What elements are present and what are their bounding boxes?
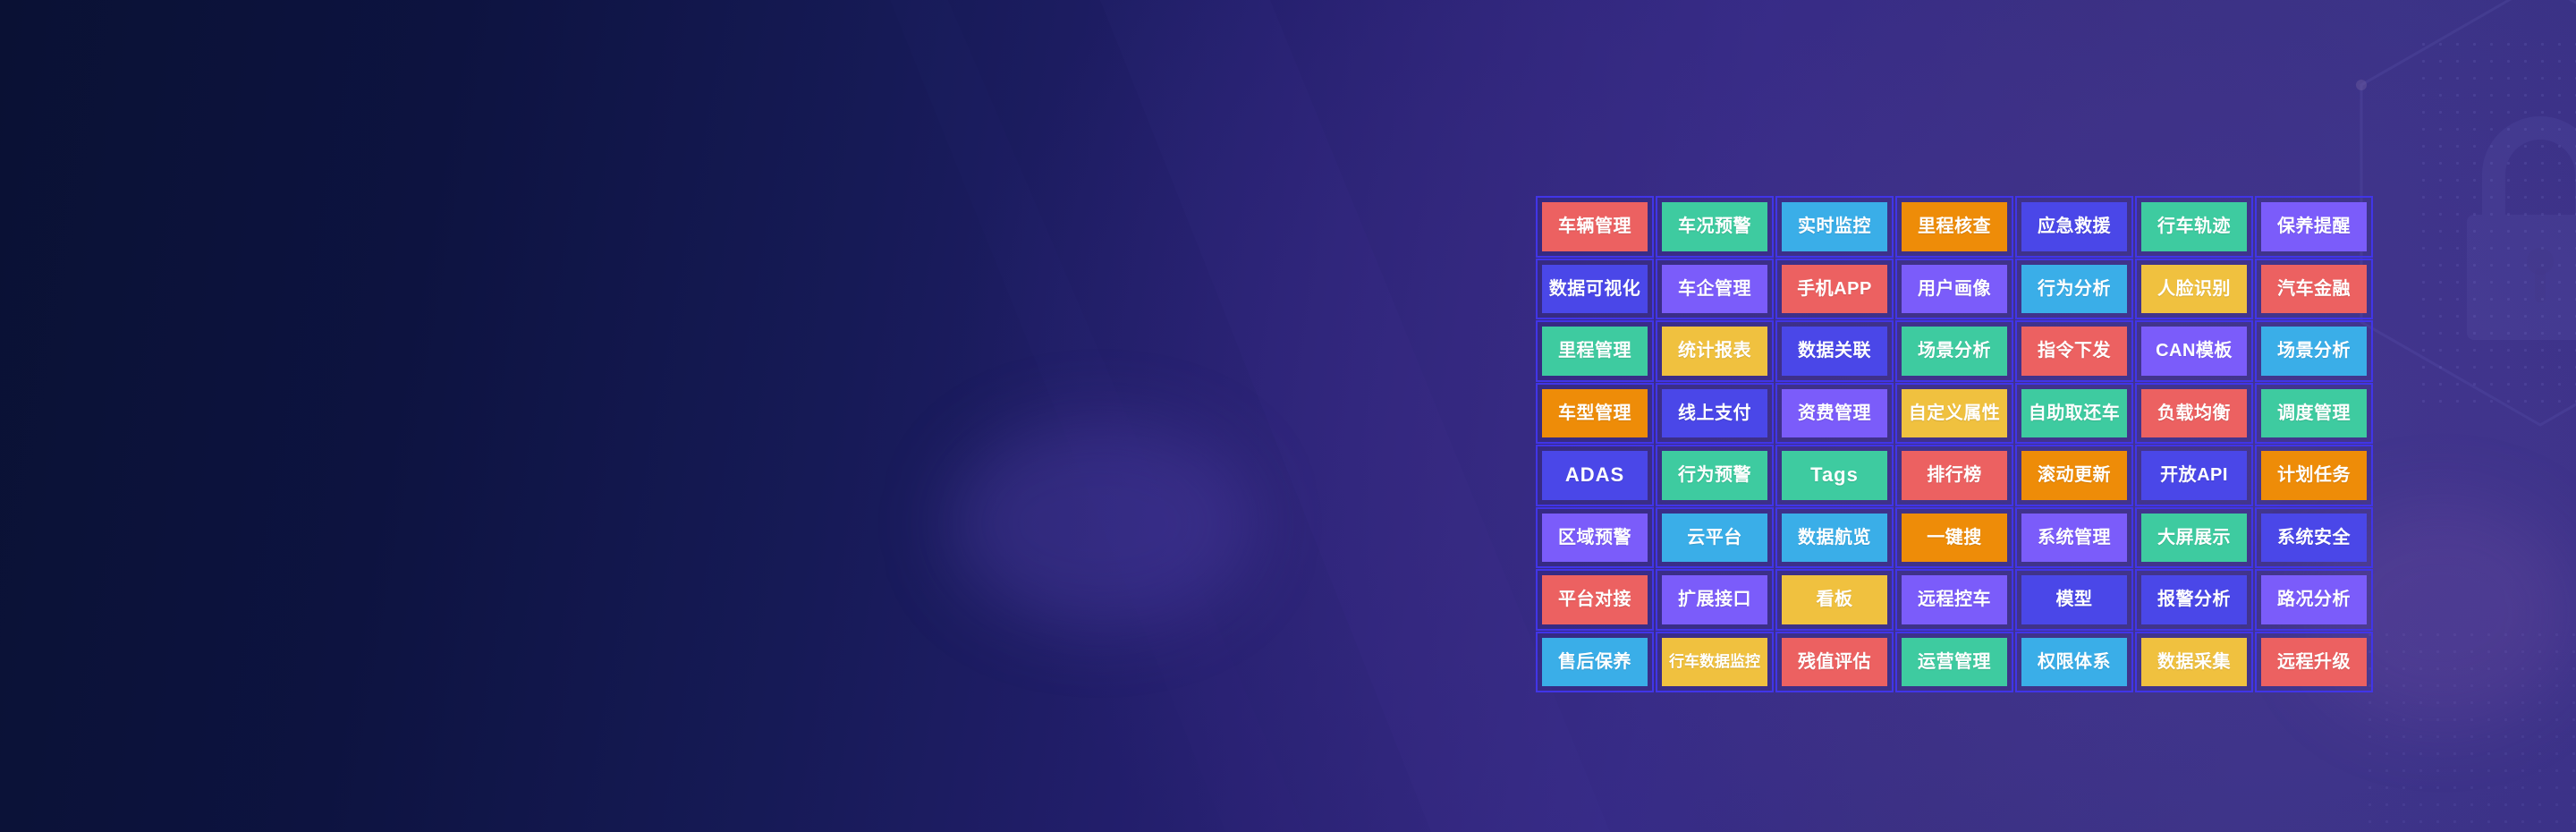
feature-tag[interactable]: 系统管理 [2015, 507, 2133, 569]
feature-tag-fill: 运营管理 [1902, 638, 2007, 687]
feature-tag[interactable]: 数据航览 [1775, 507, 1894, 569]
feature-tag[interactable]: 数据关联 [1775, 320, 1894, 382]
feature-tag-fill: 汽车金融 [2261, 265, 2367, 314]
feature-tag[interactable]: 云平台 [1656, 507, 1774, 569]
feature-tag-label: 指令下发 [2038, 342, 2111, 360]
feature-tag-fill: 报警分析 [2141, 575, 2247, 624]
feature-tag-label: 售后保养 [1558, 653, 1631, 671]
feature-tag-fill: 数据可视化 [1542, 265, 1648, 314]
feature-tag-fill: 负载均衡 [2141, 389, 2247, 438]
feature-tag-fill: 数据采集 [2141, 638, 2247, 687]
feature-tag-label: 应急救援 [2038, 217, 2111, 235]
feature-tag-label: 滚动更新 [2038, 466, 2111, 484]
feature-tag[interactable]: 售后保养 [1536, 632, 1654, 693]
feature-tag-label: 人脸识别 [2157, 280, 2231, 298]
feature-tag-label: 扩展接口 [1678, 590, 1751, 608]
feature-tag-fill: 保养提醒 [2261, 202, 2367, 251]
feature-tag[interactable]: 区域预警 [1536, 507, 1654, 569]
feature-tag-label: 运营管理 [1918, 653, 1991, 671]
feature-tag-label: 报警分析 [2157, 590, 2231, 608]
feature-tag-label: 区域预警 [1558, 529, 1631, 547]
feature-tag-fill: 平台对接 [1542, 575, 1648, 624]
feature-tag-label: 保养提醒 [2277, 217, 2351, 235]
feature-tag[interactable]: 线上支付 [1656, 383, 1774, 445]
feature-tag-fill: 远程升级 [2261, 638, 2367, 687]
feature-tag-label: Tags [1810, 465, 1859, 485]
feature-tag[interactable]: 指令下发 [2015, 320, 2133, 382]
feature-tag-fill: 开放API [2141, 451, 2247, 500]
feature-tag-label: 用户画像 [1918, 280, 1991, 298]
feature-tag[interactable]: 远程控车 [1895, 569, 2013, 631]
feature-tag-fill: 场景分析 [2261, 327, 2367, 376]
feature-tag[interactable]: 路况分析 [2255, 569, 2373, 631]
feature-tag-label: 行车轨迹 [2157, 217, 2231, 235]
feature-tag[interactable]: 场景分析 [1895, 320, 2013, 382]
feature-tag[interactable]: 人脸识别 [2135, 259, 2253, 320]
feature-tag-label: 系统管理 [2038, 529, 2111, 547]
feature-tag[interactable]: 滚动更新 [2015, 445, 2133, 506]
feature-tag[interactable]: 实时监控 [1775, 196, 1894, 258]
feature-tag-fill: ADAS [1542, 451, 1648, 500]
feature-tag-label: 远程升级 [2277, 653, 2351, 671]
feature-tag[interactable]: 数据可视化 [1536, 259, 1654, 320]
feature-tag-label: 远程控车 [1918, 590, 1991, 608]
feature-tag-fill: 云平台 [1662, 514, 1767, 563]
feature-tag-label: 车企管理 [1678, 280, 1751, 298]
feature-tag-fill: 车况预警 [1662, 202, 1767, 251]
feature-tag-fill: 调度管理 [2261, 389, 2367, 438]
feature-tag[interactable]: 里程核查 [1895, 196, 2013, 258]
feature-tag[interactable]: 残值评估 [1775, 632, 1894, 693]
feature-tag-fill: 区域预警 [1542, 514, 1648, 563]
feature-tag-label: 数据航览 [1798, 529, 1871, 547]
feature-tag[interactable]: 应急救援 [2015, 196, 2133, 258]
feature-tag-fill: 车型管理 [1542, 389, 1648, 438]
feature-tag-label: 车况预警 [1678, 217, 1751, 235]
feature-tag-fill: 人脸识别 [2141, 265, 2247, 314]
feature-tag-label: 车型管理 [1558, 404, 1631, 422]
feature-tag[interactable]: 行车轨迹 [2135, 196, 2253, 258]
feature-tag[interactable]: 权限体系 [2015, 632, 2133, 693]
feature-tag-fill: 残值评估 [1782, 638, 1887, 687]
feature-tag-label: 模型 [2056, 590, 2093, 608]
feature-tag-label: 云平台 [1687, 529, 1742, 547]
feature-tag[interactable]: 资费管理 [1775, 383, 1894, 445]
feature-tag[interactable]: 系统安全 [2255, 507, 2373, 569]
feature-tag-fill: 计划任务 [2261, 451, 2367, 500]
feature-tag-fill: 远程控车 [1902, 575, 2007, 624]
feature-tag-label: CAN模板 [2156, 342, 2233, 360]
ambient-glow-left [948, 420, 1252, 626]
feature-tag-label: ADAS [1565, 465, 1624, 485]
feature-tag-label: 实时监控 [1798, 217, 1871, 235]
feature-tag-fill: 应急救援 [2021, 202, 2127, 251]
feature-tag-fill: 行车数据监控 [1662, 638, 1767, 687]
feature-tag-fill: Tags [1782, 451, 1887, 500]
feature-tag-fill: 资费管理 [1782, 389, 1887, 438]
feature-tag[interactable]: 排行榜 [1895, 445, 2013, 506]
feature-tag-label: 残值评估 [1798, 653, 1871, 671]
feature-tag-label: 线上支付 [1678, 404, 1751, 422]
feature-tag[interactable]: 车况预警 [1656, 196, 1774, 258]
feature-tag-fill: 自定义属性 [1902, 389, 2007, 438]
light-streak [805, 0, 1610, 832]
feature-tag-fill: 自助取还车 [2021, 389, 2127, 438]
feature-tag[interactable]: Tags [1775, 445, 1894, 506]
feature-tag-fill: 车辆管理 [1542, 202, 1648, 251]
feature-tag-label: 统计报表 [1678, 342, 1751, 360]
feature-tag[interactable]: 车型管理 [1536, 383, 1654, 445]
feature-tag[interactable]: 调度管理 [2255, 383, 2373, 445]
feature-tag[interactable]: 场景分析 [2255, 320, 2373, 382]
feature-tag[interactable]: 一键搜 [1895, 507, 2013, 569]
feature-tag[interactable]: 开放API [2135, 445, 2253, 506]
feature-tag-label: 行车数据监控 [1669, 654, 1760, 669]
feature-tag[interactable]: 模型 [2015, 569, 2133, 631]
feature-tag-label: 自定义属性 [1909, 404, 2001, 422]
feature-tag-fill: 数据航览 [1782, 514, 1887, 563]
feature-tag[interactable]: 看板 [1775, 569, 1894, 631]
feature-tag[interactable]: 大屏展示 [2135, 507, 2253, 569]
feature-tag-fill: 手机APP [1782, 265, 1887, 314]
feature-tag[interactable]: 手机APP [1775, 259, 1894, 320]
feature-tag-fill: 路况分析 [2261, 575, 2367, 624]
feature-tag-fill: 场景分析 [1902, 327, 2007, 376]
feature-tag-fill: 模型 [2021, 575, 2127, 624]
feature-tag-label: 计划任务 [2277, 466, 2351, 484]
feature-tag[interactable]: 扩展接口 [1656, 569, 1774, 631]
feature-tag[interactable]: 运营管理 [1895, 632, 2013, 693]
feature-tag-label: 数据可视化 [1549, 280, 1641, 298]
feature-tag-label: 里程核查 [1918, 217, 1991, 235]
feature-tag-fill: 里程核查 [1902, 202, 2007, 251]
feature-tag[interactable]: 数据采集 [2135, 632, 2253, 693]
feature-tag[interactable]: 车辆管理 [1536, 196, 1654, 258]
feature-tag-fill: 滚动更新 [2021, 451, 2127, 500]
feature-tag-fill: 线上支付 [1662, 389, 1767, 438]
feature-tag[interactable]: 保养提醒 [2255, 196, 2373, 258]
feature-tag-label: 车辆管理 [1558, 217, 1631, 235]
feature-tag-label: 一键搜 [1927, 529, 1982, 547]
feature-tag-fill: 数据关联 [1782, 327, 1887, 376]
feature-tag[interactable]: 行为预警 [1656, 445, 1774, 506]
feature-tag[interactable]: 里程管理 [1536, 320, 1654, 382]
feature-tag[interactable]: 报警分析 [2135, 569, 2253, 631]
feature-tag-fill: 用户画像 [1902, 265, 2007, 314]
feature-tag[interactable]: 行为分析 [2015, 259, 2133, 320]
feature-tag-fill: 扩展接口 [1662, 575, 1767, 624]
feature-tag-fill: 权限体系 [2021, 638, 2127, 687]
feature-tag[interactable]: ADAS [1536, 445, 1654, 506]
feature-tag[interactable]: 计划任务 [2255, 445, 2373, 506]
feature-tag-label: 权限体系 [2038, 653, 2111, 671]
background-stage: 车辆管理车况预警实时监控里程核查应急救援行车轨迹保养提醒数据可视化车企管理手机A… [0, 0, 2576, 832]
feature-tag-fill: 大屏展示 [2141, 514, 2247, 563]
feature-tag[interactable]: 行车数据监控 [1656, 632, 1774, 693]
feature-tag[interactable]: 自助取还车 [2015, 383, 2133, 445]
feature-tag-label: 场景分析 [2277, 342, 2351, 360]
feature-tag-fill: 一键搜 [1902, 514, 2007, 563]
feature-tag-label: 路况分析 [2277, 590, 2351, 608]
feature-tag-label: 行为预警 [1678, 466, 1751, 484]
feature-tag[interactable]: 车企管理 [1656, 259, 1774, 320]
feature-tag-label: 里程管理 [1558, 342, 1631, 360]
feature-tag-label: 开放API [2160, 466, 2228, 484]
feature-tag-fill: 实时监控 [1782, 202, 1887, 251]
feature-tag[interactable]: 用户画像 [1895, 259, 2013, 320]
feature-tag[interactable]: 汽车金融 [2255, 259, 2373, 320]
feature-tag-label: 大屏展示 [2157, 529, 2231, 547]
feature-tag-label: 行为分析 [2038, 280, 2111, 298]
feature-tag-fill: 行为分析 [2021, 265, 2127, 314]
feature-tag-label: 系统安全 [2277, 529, 2351, 547]
feature-tag-fill: 系统安全 [2261, 514, 2367, 563]
feature-tag-label: 排行榜 [1927, 466, 1982, 484]
feature-tag[interactable]: 统计报表 [1656, 320, 1774, 382]
feature-tag[interactable]: 远程升级 [2255, 632, 2373, 693]
feature-tag-label: 平台对接 [1558, 590, 1631, 608]
feature-tag[interactable]: 自定义属性 [1895, 383, 2013, 445]
feature-tag-fill: 指令下发 [2021, 327, 2127, 376]
feature-tag-label: 资费管理 [1798, 404, 1871, 422]
feature-tag-label: 数据采集 [2157, 653, 2231, 671]
feature-tag-fill: 售后保养 [1542, 638, 1648, 687]
feature-tag-fill: 系统管理 [2021, 514, 2127, 563]
feature-tag-fill: 看板 [1782, 575, 1887, 624]
feature-tag-label: 看板 [1817, 590, 1853, 608]
feature-tag-label: 数据关联 [1798, 342, 1871, 360]
feature-tag-label: 调度管理 [2277, 404, 2351, 422]
feature-tag[interactable]: CAN模板 [2135, 320, 2253, 382]
feature-tag-fill: 统计报表 [1662, 327, 1767, 376]
feature-tag-label: 自助取还车 [2029, 404, 2121, 422]
feature-tag-fill: 车企管理 [1662, 265, 1767, 314]
feature-tag[interactable]: 平台对接 [1536, 569, 1654, 631]
dot-grid-pattern-lower [2361, 626, 2576, 832]
feature-tag-fill: 行车轨迹 [2141, 202, 2247, 251]
feature-tag-label: 负载均衡 [2157, 404, 2231, 422]
feature-tag-fill: 行为预警 [1662, 451, 1767, 500]
feature-tag-fill: CAN模板 [2141, 327, 2247, 376]
feature-tag[interactable]: 负载均衡 [2135, 383, 2253, 445]
feature-tag-fill: 排行榜 [1902, 451, 2007, 500]
feature-tag-fill: 里程管理 [1542, 327, 1648, 376]
feature-tag-label: 手机APP [1797, 280, 1872, 298]
feature-tag-label: 汽车金融 [2277, 280, 2351, 298]
feature-tag-label: 场景分析 [1918, 342, 1991, 360]
dot-grid-pattern [2415, 36, 2576, 412]
feature-tag-grid: 车辆管理车况预警实时监控里程核查应急救援行车轨迹保养提醒数据可视化车企管理手机A… [1536, 196, 2373, 692]
